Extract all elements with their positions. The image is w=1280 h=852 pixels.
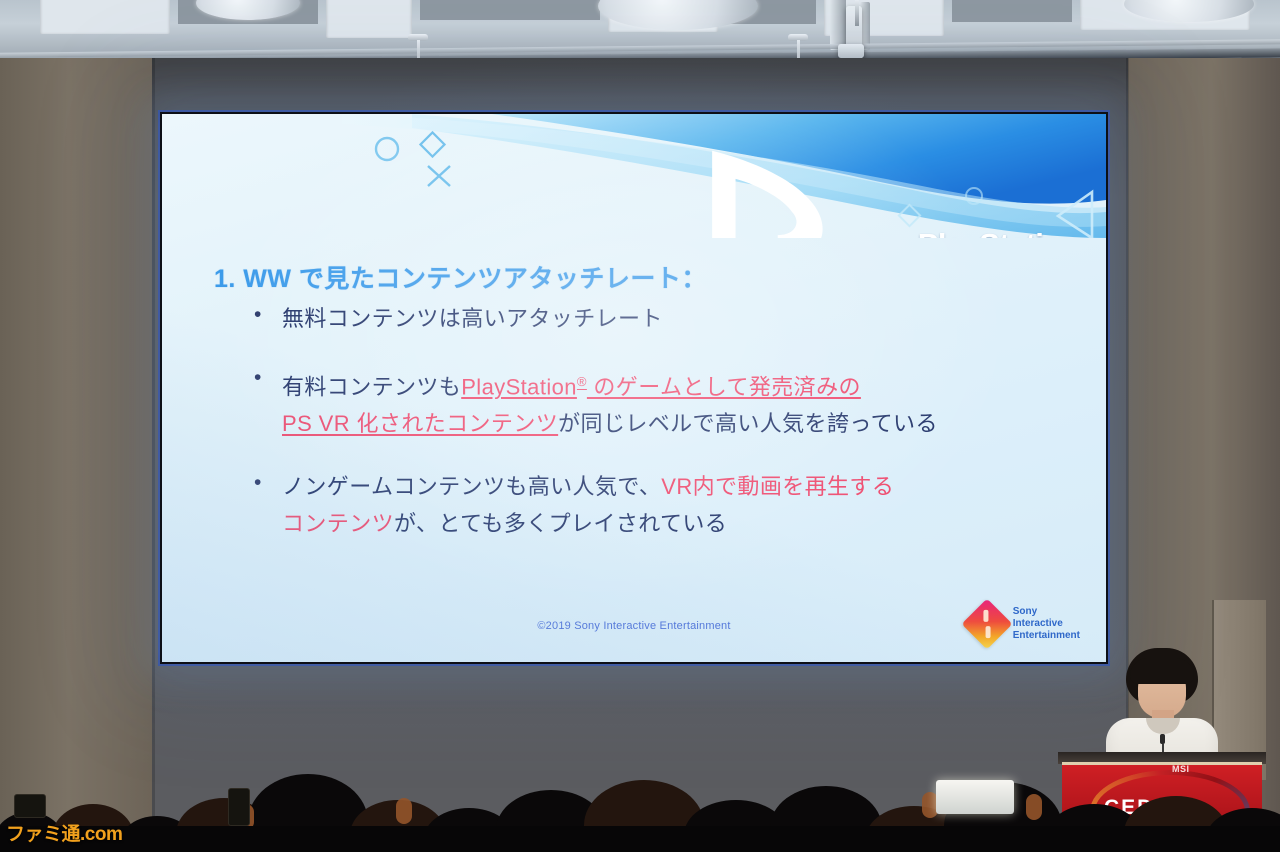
- list-item: • 有料コンテンツもPlayStation® のゲームとして発売済みのPS VR…: [254, 363, 1064, 442]
- bullet-marker: •: [254, 300, 282, 330]
- bullet-text: ノンゲームコンテンツも高い人気で、VR内で動画を再生するコンテンツが、とても多く…: [282, 468, 894, 542]
- text-segment-highlight: のゲームとして発売済みの: [587, 374, 861, 399]
- left-wall-panel: [0, 58, 152, 852]
- cedec-event-year: 2019: [1118, 818, 1155, 835]
- text-segment: 有料コンテンツも: [282, 374, 461, 399]
- playstation-wordmark: PlayStation: [609, 132, 1080, 238]
- wall-seam: [152, 58, 155, 852]
- list-item: • ノンゲームコンテンツも高い人気で、VR内で動画を再生するコンテンツが、とても…: [254, 468, 1064, 542]
- bullet-marker: •: [254, 363, 282, 393]
- playstation-logo-icon: [609, 132, 909, 238]
- sie-line-3: Entertainment: [1013, 630, 1080, 642]
- cedec-event-name: CEDEC: [1104, 796, 1188, 820]
- famitsu-watermark: ファミ通.com: [6, 819, 122, 846]
- hanging-rod: [855, 0, 859, 26]
- conference-room-photo: PlayStation 1. WW で見たコンテンツアタッチレート： • 無料コ…: [0, 0, 1280, 852]
- hanging-speaker: [838, 44, 864, 58]
- sony-interactive-entertainment-logo: Sony Interactive Entertainment: [969, 606, 1080, 642]
- sie-line-2: Interactive: [1013, 618, 1080, 630]
- circle-icon: [376, 138, 398, 160]
- sony-interactive-entertainment-diamond-icon: [961, 599, 1012, 650]
- registered-mark: ®: [577, 374, 587, 389]
- text-segment: が同じレベルで高い人気を誇っている: [558, 411, 938, 436]
- text-segment-highlight: PS VR 化されたコンテンツ: [282, 411, 558, 436]
- text-segment-highlight: コンテンツ: [282, 511, 394, 536]
- podium-sponsor-mark: MSI: [1172, 764, 1190, 774]
- text-segment: ノンゲームコンテンツも高い人気で、: [282, 474, 661, 499]
- playstation-brand-text: PlayStation: [918, 227, 1080, 239]
- bullet-text: 無料コンテンツは高いアタッチレート: [282, 300, 663, 337]
- presenter-hair-fringe: [1130, 658, 1194, 684]
- projection-screen: PlayStation 1. WW で見たコンテンツアタッチレート： • 無料コ…: [160, 112, 1108, 664]
- list-item: • 無料コンテンツは高いアタッチレート: [254, 300, 1064, 337]
- slide: PlayStation 1. WW で見たコンテンツアタッチレート： • 無料コ…: [162, 114, 1106, 662]
- cross-icon: [428, 166, 450, 186]
- sie-logo-text: Sony Interactive Entertainment: [1013, 606, 1080, 642]
- text-segment-highlight: VR内で動画を再生する: [661, 474, 894, 499]
- lapel-microphone: [1160, 734, 1165, 744]
- slide-header-banner: PlayStation: [162, 114, 1106, 238]
- slide-title: 1. WW で見たコンテンツアタッチレート：: [214, 259, 707, 295]
- text-segment-highlight: PlayStation: [461, 374, 577, 399]
- bullet-text: 有料コンテンツもPlayStation® のゲームとして発売済みのPS VR 化…: [282, 363, 938, 442]
- text-segment: 無料コンテンツは高いアタッチレート: [282, 306, 663, 331]
- square-icon: [420, 132, 444, 156]
- bullet-list: • 無料コンテンツは高いアタッチレート • 有料コンテンツもPlayStatio…: [254, 300, 1064, 568]
- sie-line-1: Sony: [1013, 606, 1080, 618]
- bullet-marker: •: [254, 468, 282, 498]
- text-segment: が、とても多くプレイされている: [394, 511, 727, 536]
